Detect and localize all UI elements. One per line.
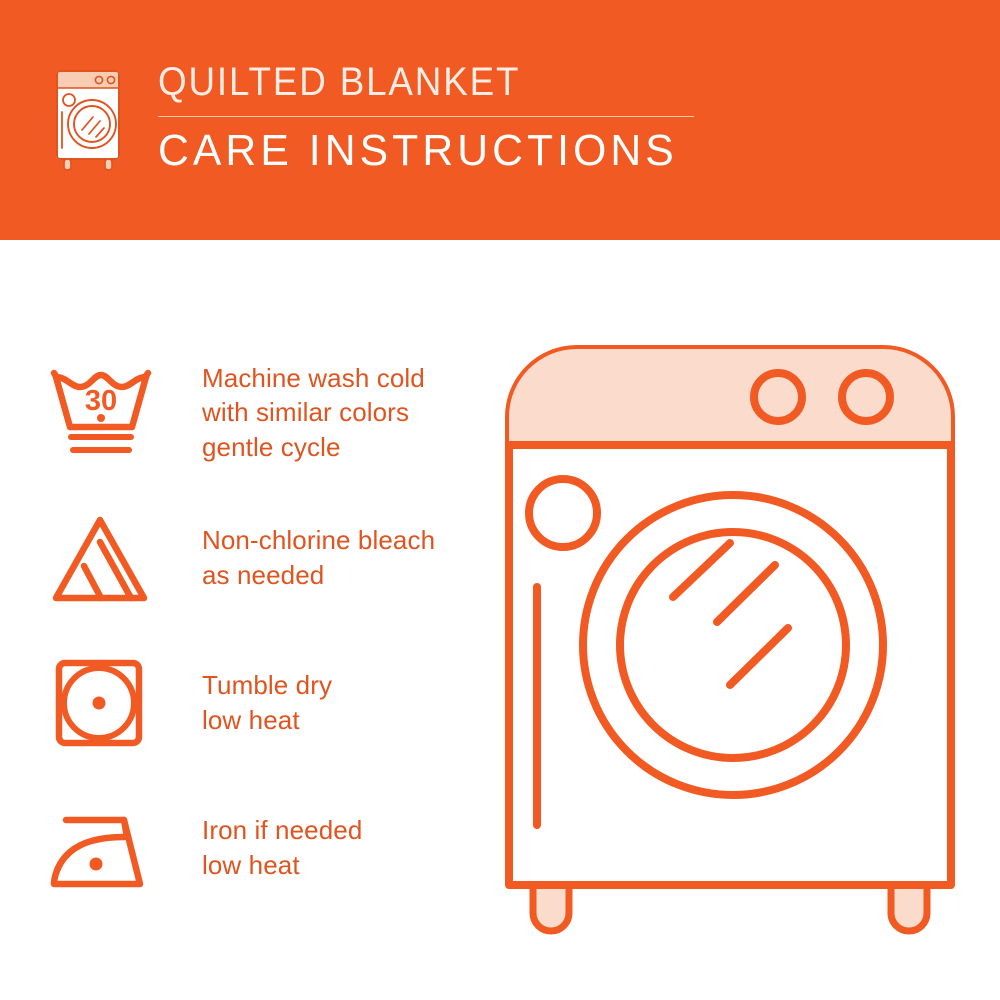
care-text-bleach: Non-chlorine bleach as needed [202,523,435,592]
tumble-dry-low-heat-icon [48,655,154,751]
care-row-bleach: Non-chlorine bleach as needed [48,485,478,630]
header-band: QUILTED BLANKET CARE INSTRUCTIONS [0,0,1000,240]
iron-dot [90,857,103,870]
header-content: QUILTED BLANKET CARE INSTRUCTIONS [48,62,694,175]
wash-temperature-label: 30 [85,385,117,417]
page-title-primary: QUILTED BLANKET [158,62,651,102]
wash-dot [97,414,105,422]
care-symbol-iron [48,798,160,898]
care-text-iron: Iron if needed low heat [202,813,362,882]
care-instruction-list: 30 Machine wash cold with similar colors… [48,340,478,920]
care-symbol-machine-wash: 30 [48,363,160,463]
tumble-dry-dot [93,696,106,709]
control-panel [509,349,951,445]
washing-machine-icon [48,65,130,175]
header-title-block: QUILTED BLANKET CARE INSTRUCTIONS [158,62,694,173]
non-chlorine-bleach-triangle-icon [48,510,154,606]
care-row-iron: Iron if needed low heat [48,775,478,920]
care-symbol-bleach [48,508,160,608]
care-symbol-tumble-dry [48,653,160,753]
care-row-tumble-dry: Tumble dry low heat [48,630,478,775]
iron-low-heat-icon [48,800,160,896]
care-text-machine-wash: Machine wash cold with similar colors ge… [202,361,425,464]
care-text-tumble-dry: Tumble dry low heat [202,668,332,737]
page-title-secondary: CARE INSTRUCTIONS [158,129,678,173]
front-load-washing-machine-illustration [485,325,975,935]
care-label-page: QUILTED BLANKET CARE INSTRUCTIONS [0,0,1000,1000]
machine-wash-30-gentle-icon: 30 [48,365,154,461]
care-row-machine-wash: 30 Machine wash cold with similar colors… [48,340,478,485]
title-divider [158,116,694,117]
